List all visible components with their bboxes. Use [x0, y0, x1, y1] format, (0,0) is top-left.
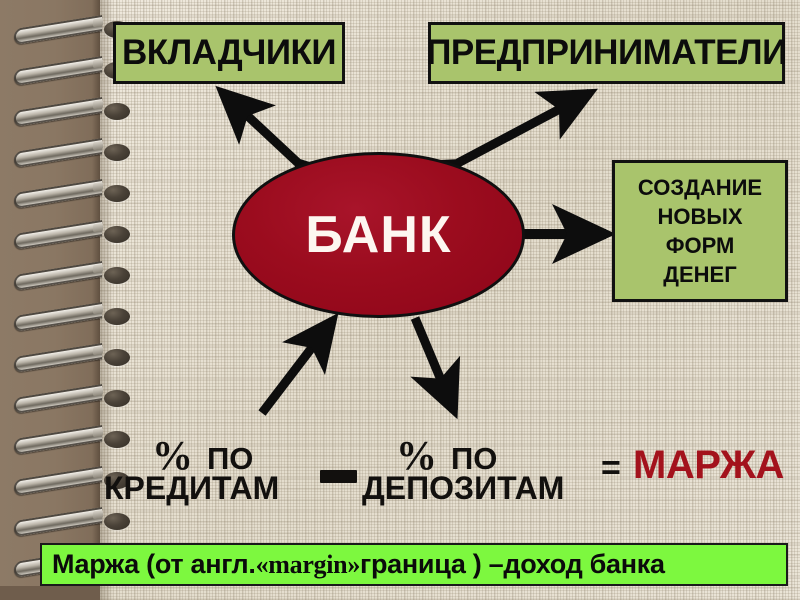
spiral-punch-hole: [104, 267, 130, 284]
spiral-punch-hole: [104, 185, 130, 202]
node-ellipse-bank-label: БАНК: [305, 205, 451, 265]
spiral-punch-hole: [104, 431, 130, 448]
node-box-depositors[interactable]: ВКЛАДЧИКИ: [113, 22, 345, 84]
spiral-punch-hole: [104, 226, 130, 243]
caption-english-term: «margin»: [256, 550, 360, 580]
formula-deposit-term: ДЕПОЗИТАМ: [362, 470, 564, 507]
new-money-line-3: ФОРМ: [666, 231, 735, 260]
minus-operator: [320, 470, 357, 483]
spiral-punch-hole: [104, 103, 130, 120]
new-money-line-2: НОВЫХ: [657, 202, 742, 231]
slide-canvas: ВКЛАДЧИКИ ПРЕДПРИНИМАТЕЛИ СОЗДАНИЕ НОВЫХ…: [0, 0, 800, 600]
node-box-entrepreneurs-label: ПРЕДПРИНИМАТЕЛИ: [426, 34, 787, 72]
new-money-line-1: СОЗДАНИЕ: [638, 173, 762, 202]
caption-part-1: Маржа (от англ.: [52, 549, 256, 580]
spiral-punch-hole: [104, 513, 130, 530]
formula-credit-term: КРЕДИТАМ: [104, 470, 279, 507]
equals-operator: =: [601, 449, 621, 488]
binder-bottom-edge: [0, 586, 100, 600]
spiral-punch-hole: [104, 390, 130, 407]
node-box-entrepreneurs[interactable]: ПРЕДПРИНИМАТЕЛИ: [428, 22, 785, 84]
spiral-punch-hole: [104, 308, 130, 325]
node-ellipse-bank[interactable]: БАНК: [232, 152, 525, 318]
spiral-punch-hole: [104, 144, 130, 161]
definition-caption-bar: Маржа (от англ. «margin» граница ) –дохо…: [40, 543, 788, 586]
node-box-depositors-label: ВКЛАДЧИКИ: [122, 34, 336, 72]
node-box-new-money-forms[interactable]: СОЗДАНИЕ НОВЫХ ФОРМ ДЕНЕГ: [612, 160, 788, 302]
caption-part-2: граница ) –доход банка: [360, 549, 665, 580]
formula-result-margin: МАРЖА: [633, 443, 784, 488]
new-money-line-4: ДЕНЕГ: [663, 260, 736, 289]
spiral-punch-hole: [104, 349, 130, 366]
